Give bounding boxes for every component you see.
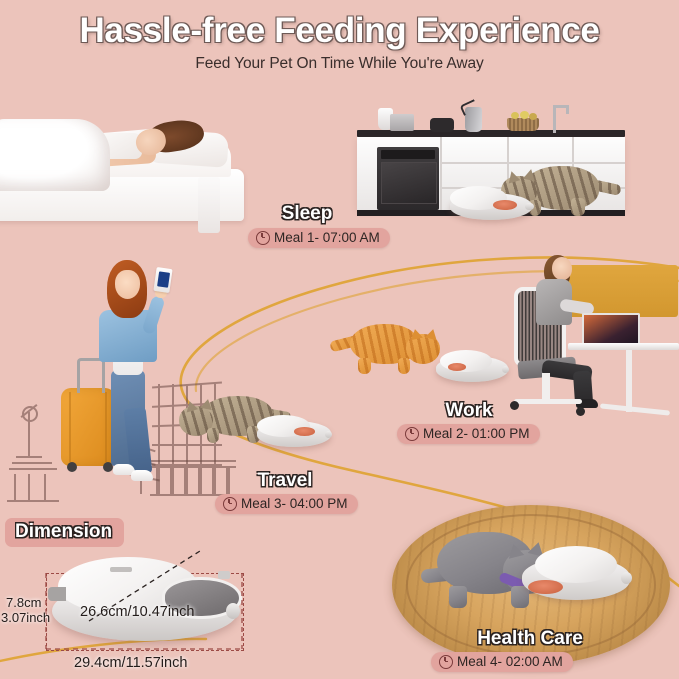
dimension-height-cm: 7.8cm <box>6 595 41 610</box>
dimension-diagonal-line <box>0 0 679 679</box>
dimension-height-inch: 3.07inch <box>1 610 50 625</box>
dimension-width: 29.4cm/11.57inch <box>74 655 187 672</box>
infographic-page: Hassle-free Feeding Experience Feed Your… <box>0 0 679 679</box>
dimension-depth: 26.6cm/10.47inch <box>80 604 194 621</box>
